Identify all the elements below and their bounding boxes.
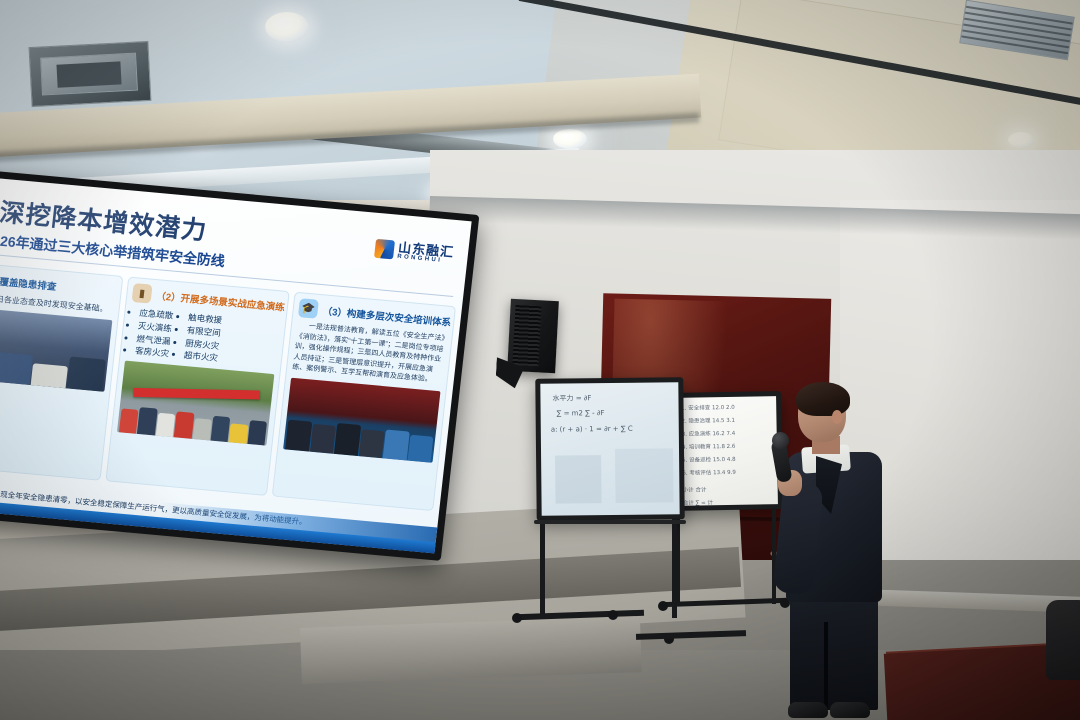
slide-panel-3: 🎓 （3）构建多层次安全培训体系 一是法规普法教育，解读五位《安全生产法》《消防… [272, 292, 456, 511]
presenter-legs [790, 592, 878, 710]
downlight-1 [265, 12, 309, 42]
rear-wb-line-4: 4. 培训教育 11.8 2.6 [682, 442, 736, 451]
slide-panel-1: ✔ 全覆盖隐患排查 间、节假日各业态查及时发现安全基础。 [0, 261, 123, 480]
rear-wb-line-5: 5. 设备巡检 15.0 4.8 [682, 455, 736, 464]
slide-panel-3-body: 一是法规普法教育，解读五位《安全生产法》《消防法》，落实“十工第一课”；二是岗位… [292, 321, 447, 387]
rear-whiteboard-surface[interactable]: 1. 安全排查 12.0 2.0 2. 隐患治理 14.5 3.1 3. 应急演… [676, 396, 778, 506]
front-whiteboard-caster-left [512, 613, 522, 623]
presenter [772, 386, 890, 720]
front-whiteboard-leg-right [672, 518, 677, 618]
front-whiteboard[interactable]: 水平力 = ∂F ∑ = m2 ∑ - ∂F a: (r + a) · 1 = … [535, 377, 684, 521]
slide-content: 空深挖降本增效潜力 —2026年通过三大核心举措筑牢安全防线 山东融汇 RONG… [0, 176, 472, 554]
led-display-screen[interactable]: 空深挖降本增效潜力 —2026年通过三大核心举措筑牢安全防线 山东融汇 RONG… [0, 168, 479, 561]
rear-wb-line-3: 3. 应急演练 16.2 7.4 [682, 429, 736, 438]
front-wb-line-3: a: (r + a) · 1 = ∂r + ∑ C [551, 425, 633, 434]
presenter-shoe-right [830, 702, 870, 718]
presenter-shoe-left [788, 702, 828, 718]
slide-panels: ✔ 全覆盖隐患排查 间、节假日各业态查及时发现安全基础。 [0, 261, 456, 511]
bullets-right: 触电救援 有限空间 厨房火灾 超市火灾 [174, 310, 223, 365]
office-chair[interactable] [1046, 600, 1080, 680]
front-whiteboard-caster-mid [608, 610, 618, 620]
rear-wb-line-6: 6. 考核评估 13.4 9.9 [682, 468, 736, 477]
safety-training-photo [283, 377, 440, 462]
ronghui-logo-mark [374, 239, 395, 260]
brand-logo: 山东融汇 RONGHUI [374, 239, 455, 265]
presenter-ear [832, 410, 842, 424]
front-wb-line-1: 水平力 = ∂F [552, 393, 591, 403]
fire-extinguisher-icon: ▮ [132, 283, 153, 304]
slide-panel-2-bullets: 应急疏散 灭火演练 燃气泄漏 客房火灾 触电救援 有限空间 厨房火灾 超市火灾 [125, 306, 280, 370]
slide-panel-2: ▮ （2）开展多场景实战应急演练 应急疏散 灭火演练 燃气泄漏 客房火灾 触电救… [105, 277, 289, 496]
list-item: 超市火灾 [183, 349, 218, 365]
front-whiteboard-tray [534, 520, 686, 524]
graduation-cap-icon: 🎓 [298, 298, 319, 319]
inspection-photo [0, 306, 112, 391]
rear-wb-line-8: 合计 ∑ = 计 [683, 498, 713, 507]
emergency-drill-photo [117, 361, 274, 446]
presenter-leg-split [824, 622, 828, 708]
wall-speaker [507, 299, 559, 373]
rear-wb-line-1: 1. 安全排查 12.0 2.0 [681, 403, 735, 412]
bullets-left: 应急疏散 灭火演练 燃气泄漏 客房火灾 [125, 306, 174, 361]
list-item: 客房火灾 [134, 345, 169, 361]
front-wb-line-2: ∑ = m2 ∑ - ∂F [557, 409, 605, 418]
slide-panel-1-title: 全覆盖隐患排查 [0, 273, 57, 293]
rear-whiteboard-caster-left [658, 601, 668, 611]
rear-wb-line-2: 2. 隐患治理 14.5 3.1 [681, 416, 735, 425]
front-whiteboard-leg-left [540, 518, 545, 616]
rear-whiteboard[interactable]: 1. 安全排查 12.0 2.0 2. 隐患治理 14.5 3.1 3. 应急演… [671, 391, 783, 511]
conference-room-scene: 空深挖降本增效潜力 —2026年通过三大核心举措筑牢安全防线 山东融汇 RONG… [0, 0, 1080, 720]
presenter-hair [796, 382, 850, 416]
downlight-4 [553, 129, 587, 149]
ceiling-vent-left [29, 41, 152, 107]
rear-wb-line-7: 小计 合计 [683, 485, 707, 493]
downlight-9 [1008, 132, 1034, 148]
front-whiteboard-surface[interactable]: 水平力 = ∂F ∑ = m2 ∑ - ∂F a: (r + a) · 1 = … [540, 382, 679, 515]
stage-step [300, 616, 642, 684]
